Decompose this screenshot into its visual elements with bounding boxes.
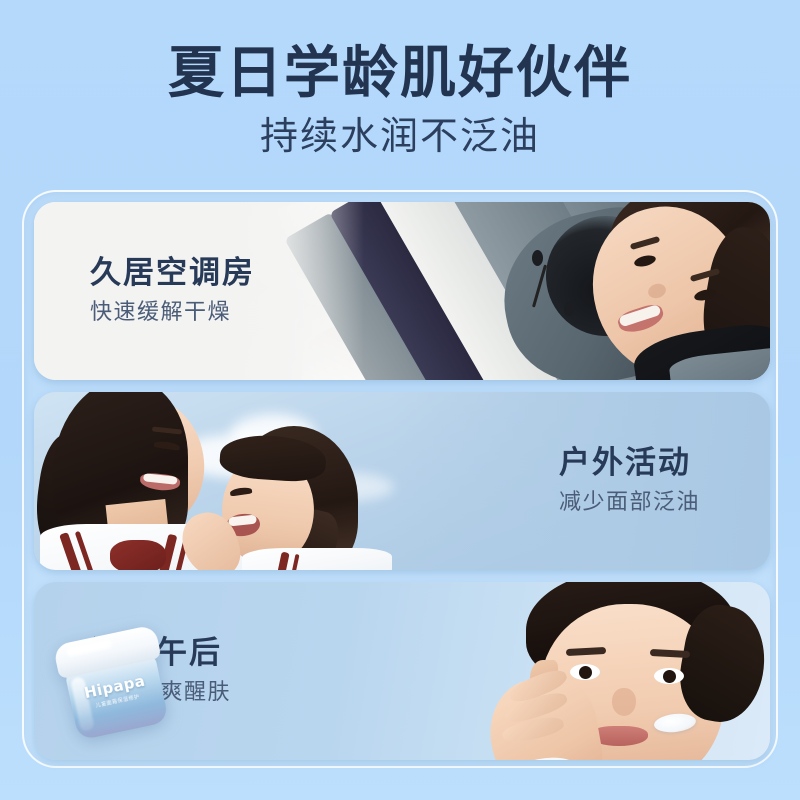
- panels-list: 久居空调房 快速缓解干燥: [34, 202, 766, 756]
- poster-header: 夏日学龄肌好伙伴 持续水润不泛油: [0, 0, 800, 190]
- child-pupil: [579, 666, 592, 679]
- school-uniform-shirt: [242, 548, 392, 570]
- panel-title: 户外活动: [559, 443, 700, 483]
- page-subtitle: 持续水润不泛油: [0, 112, 800, 160]
- panels-frame: 久居空调房 快速缓解干燥: [22, 190, 778, 768]
- feature-panel-ac-room[interactable]: 久居空调房 快速缓解干燥: [34, 202, 770, 380]
- uniform-bow-tie: [110, 540, 166, 570]
- panel-subtitle: 减少面部泛油: [559, 487, 700, 519]
- child-pupil: [663, 670, 676, 683]
- poster-root: 夏日学龄肌好伙伴 持续水润不泛油: [0, 0, 800, 800]
- cord-toggle: [532, 250, 543, 266]
- child-nose: [612, 688, 636, 716]
- feature-panel-afternoon-break[interactable]: Hipapa 儿童面霜保湿修护 课间午后 一抹清爽醒肤: [34, 582, 770, 760]
- panel-caption-outdoor: 户外活动 减少面部泛油: [559, 443, 700, 519]
- panel-title: 久居空调房: [90, 253, 255, 293]
- child-eye: [570, 664, 600, 680]
- page-title: 夏日学龄肌好伙伴: [0, 42, 800, 106]
- cord-toggle: [564, 302, 574, 316]
- feature-panel-outdoor[interactable]: 户外活动 减少面部泛油: [34, 392, 770, 570]
- girl-teeth: [228, 515, 257, 527]
- panel-photo-afternoon-break: Hipapa 儿童面霜保湿修护: [34, 582, 770, 760]
- product-jar[interactable]: Hipapa 儿童面霜保湿修护: [53, 624, 176, 743]
- girl-teeth: [143, 473, 178, 485]
- panel-caption-ac-room: 久居空调房 快速缓解干燥: [90, 253, 255, 329]
- panel-subtitle: 快速缓解干燥: [90, 297, 255, 329]
- child-eye: [654, 668, 684, 684]
